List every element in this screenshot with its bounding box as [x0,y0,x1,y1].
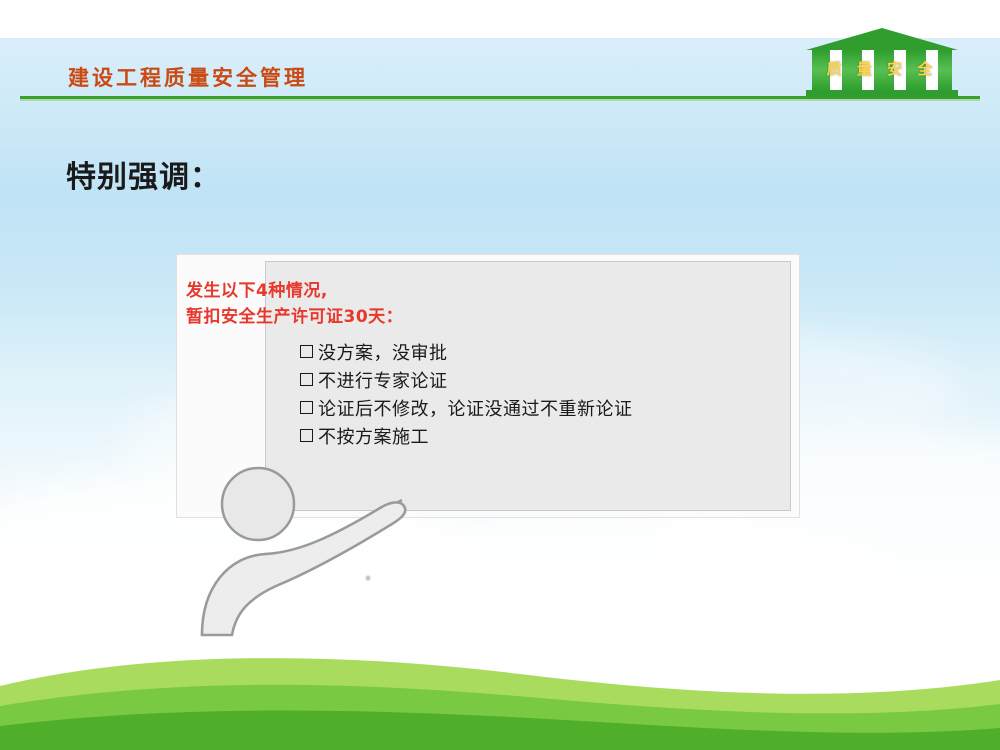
logo-label: 质 量 安 全 [814,58,950,79]
list-item-label: 不进行专家论证 [318,371,448,392]
quality-safety-logo-icon: 质 量 安 全 [806,28,958,98]
list-item: 不进行专家论证 [300,368,633,396]
list-item: 论证后不修改，论证没通过不重新论证 [300,396,633,424]
list-item-label: 没方案，没审批 [318,343,448,364]
page-title: 特别强调： [66,152,221,196]
list-item: 没方案，没审批 [300,340,633,368]
warning-line-2: 暂扣安全生产许可证30天： [186,304,403,330]
logo-roof [806,28,958,50]
checkbox-icon [300,373,313,386]
grass-decoration [0,640,1000,750]
list-item: 不按方案施工 [300,424,633,452]
list-item-label: 不按方案施工 [318,427,429,448]
whiteboard-checklist: 没方案，没审批 不进行专家论证 论证后不修改，论证没通过不重新论证 不按方案施工 [300,340,633,452]
checkbox-icon [300,345,313,358]
list-item-label: 论证后不修改，论证没通过不重新论证 [318,399,633,420]
whiteboard-warning-text: 发生以下4种情况, 暂扣安全生产许可证30天： [186,278,403,330]
header-title: 建设工程质量安全管理 [68,62,308,92]
presenter-figure-icon [180,460,440,640]
checkbox-icon [300,429,313,442]
checkbox-icon [300,401,313,414]
logo-base [806,90,958,98]
warning-line-1: 发生以下4种情况, [186,278,403,304]
slide-canvas: 建设工程质量安全管理 质 量 安 全 特别强调： 发生以下4种情况, 暂扣安全生… [0,0,1000,750]
